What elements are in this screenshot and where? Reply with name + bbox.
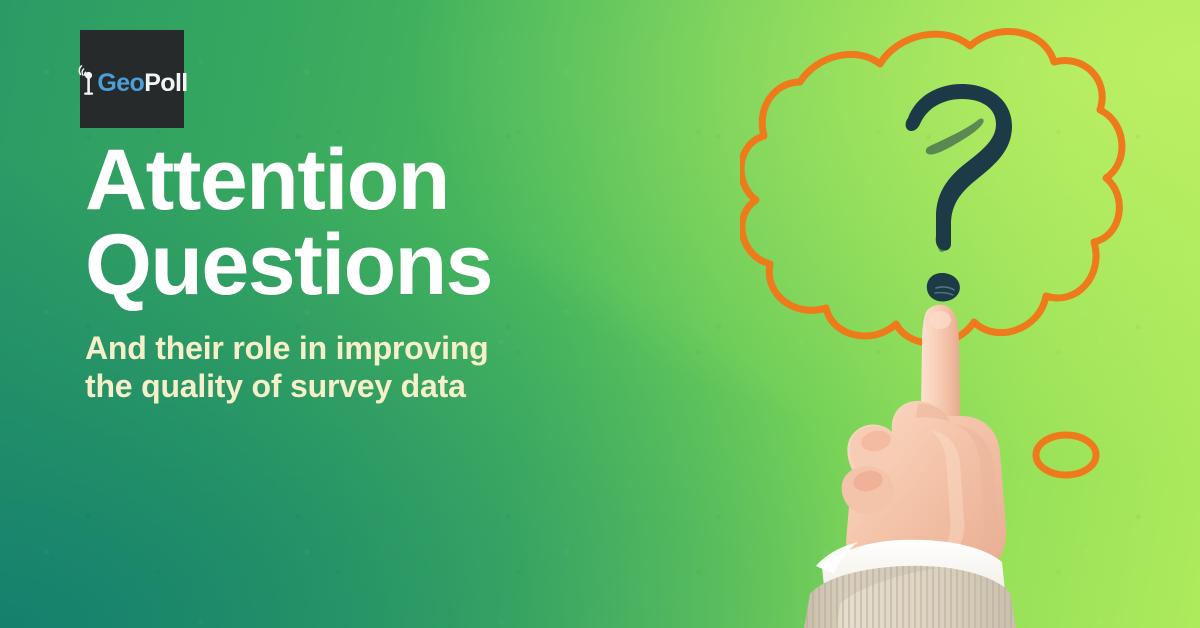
logo-lockup: GeoPoll: [76, 62, 187, 96]
logo-word-geo: Geo: [97, 69, 144, 97]
subtitle-line-1: And their role in improving: [85, 330, 705, 368]
logo-wordmark: GeoPoll: [97, 71, 187, 96]
promo-banner: GeoPoll Attention Questions And their ro…: [0, 0, 1200, 628]
subtitle-line-2: the quality of survey data: [85, 368, 705, 406]
question-mark-icon: [906, 84, 1012, 301]
signal-tower-icon: [76, 62, 96, 96]
page-title-line-1: Attention: [85, 138, 705, 223]
geopoll-logo[interactable]: GeoPoll: [80, 30, 184, 128]
thought-bubble-tail-icon: [1036, 435, 1096, 475]
subtitle-block: And their role in improving the quality …: [85, 330, 705, 406]
logo-word-poll: Poll: [144, 69, 187, 97]
pointing-hand-icon: [804, 305, 1016, 628]
page-title-line-2: Questions: [85, 223, 705, 308]
hero-illustration: [740, 0, 1200, 628]
headline-block: Attention Questions And their role in im…: [85, 138, 705, 406]
